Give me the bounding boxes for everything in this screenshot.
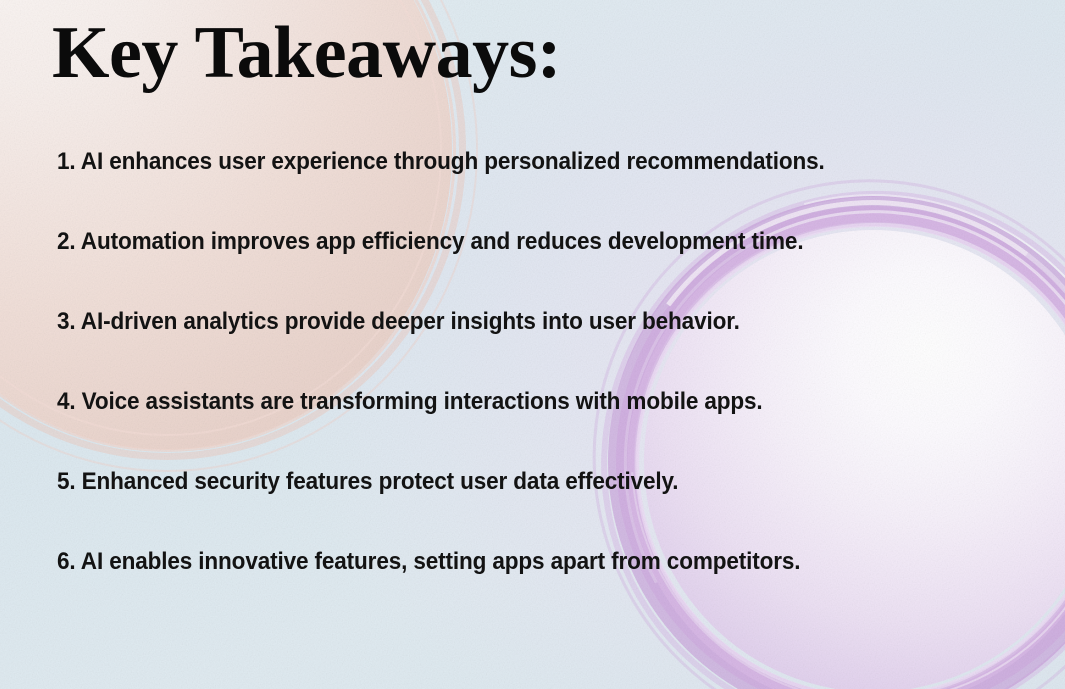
takeaways-list: 1. AI enhances user experience through p…: [57, 150, 987, 630]
list-item: 6. AI enables innovative features, setti…: [57, 550, 913, 630]
page-title: Key Takeaways:: [52, 16, 561, 90]
slide-content: Key Takeaways: 1. AI enhances user exper…: [0, 0, 1065, 689]
slide-canvas: Key Takeaways: 1. AI enhances user exper…: [0, 0, 1065, 689]
list-item: 3. AI-driven analytics provide deeper in…: [57, 310, 913, 390]
list-item: 4. Voice assistants are transforming int…: [57, 390, 913, 470]
list-item: 5. Enhanced security features protect us…: [57, 470, 913, 550]
list-item: 1. AI enhances user experience through p…: [57, 150, 913, 230]
list-item: 2. Automation improves app efficiency an…: [57, 230, 913, 310]
